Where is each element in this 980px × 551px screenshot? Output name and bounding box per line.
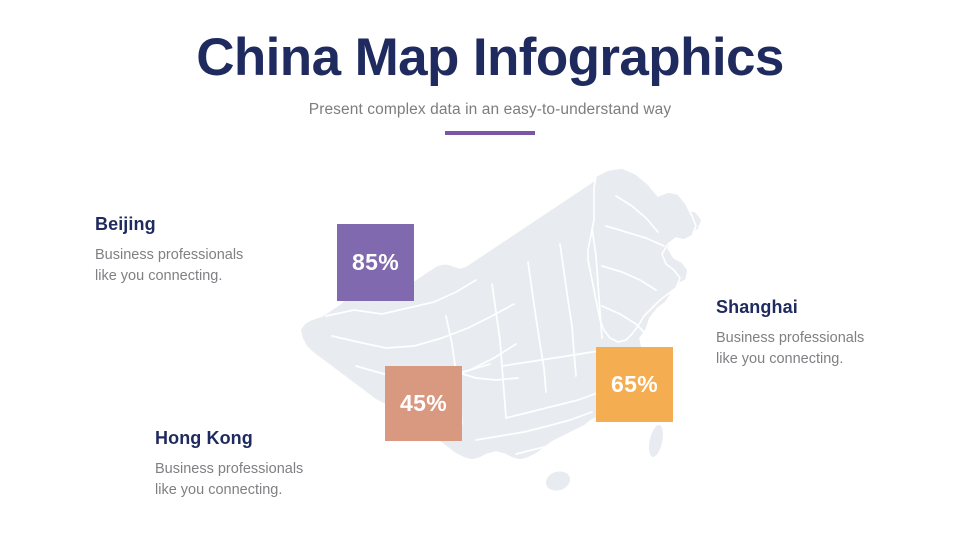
- hainan-island: [543, 467, 574, 494]
- taiwan-island: [646, 423, 667, 459]
- page-subtitle: Present complex data in an easy-to-under…: [0, 100, 980, 120]
- region-title-shanghai: Shanghai: [716, 297, 946, 318]
- value-square-hongkong[interactable]: 45%: [385, 366, 462, 441]
- infographic-slide: China Map Infographics Present complex d…: [0, 0, 980, 551]
- region-description-hongkong: Business professionals like you connecti…: [155, 459, 385, 501]
- region-description-shanghai: Business professionals like you connecti…: [716, 328, 946, 370]
- value-square-shanghai[interactable]: 65%: [596, 347, 673, 422]
- info-block-hongkong: Hong Kong Business professionals like yo…: [155, 428, 385, 501]
- value-square-beijing[interactable]: 85%: [337, 224, 414, 301]
- china-northeast-path: [588, 168, 696, 342]
- info-block-beijing: Beijing Business professionals like you …: [95, 214, 325, 287]
- header: China Map Infographics Present complex d…: [0, 30, 980, 120]
- region-title-hongkong: Hong Kong: [155, 428, 385, 449]
- title-divider-accent: [445, 131, 535, 135]
- page-title: China Map Infographics: [0, 30, 980, 86]
- region-description-beijing: Business professionals like you connecti…: [95, 245, 325, 287]
- region-title-beijing: Beijing: [95, 214, 325, 235]
- info-block-shanghai: Shanghai Business professionals like you…: [716, 297, 946, 370]
